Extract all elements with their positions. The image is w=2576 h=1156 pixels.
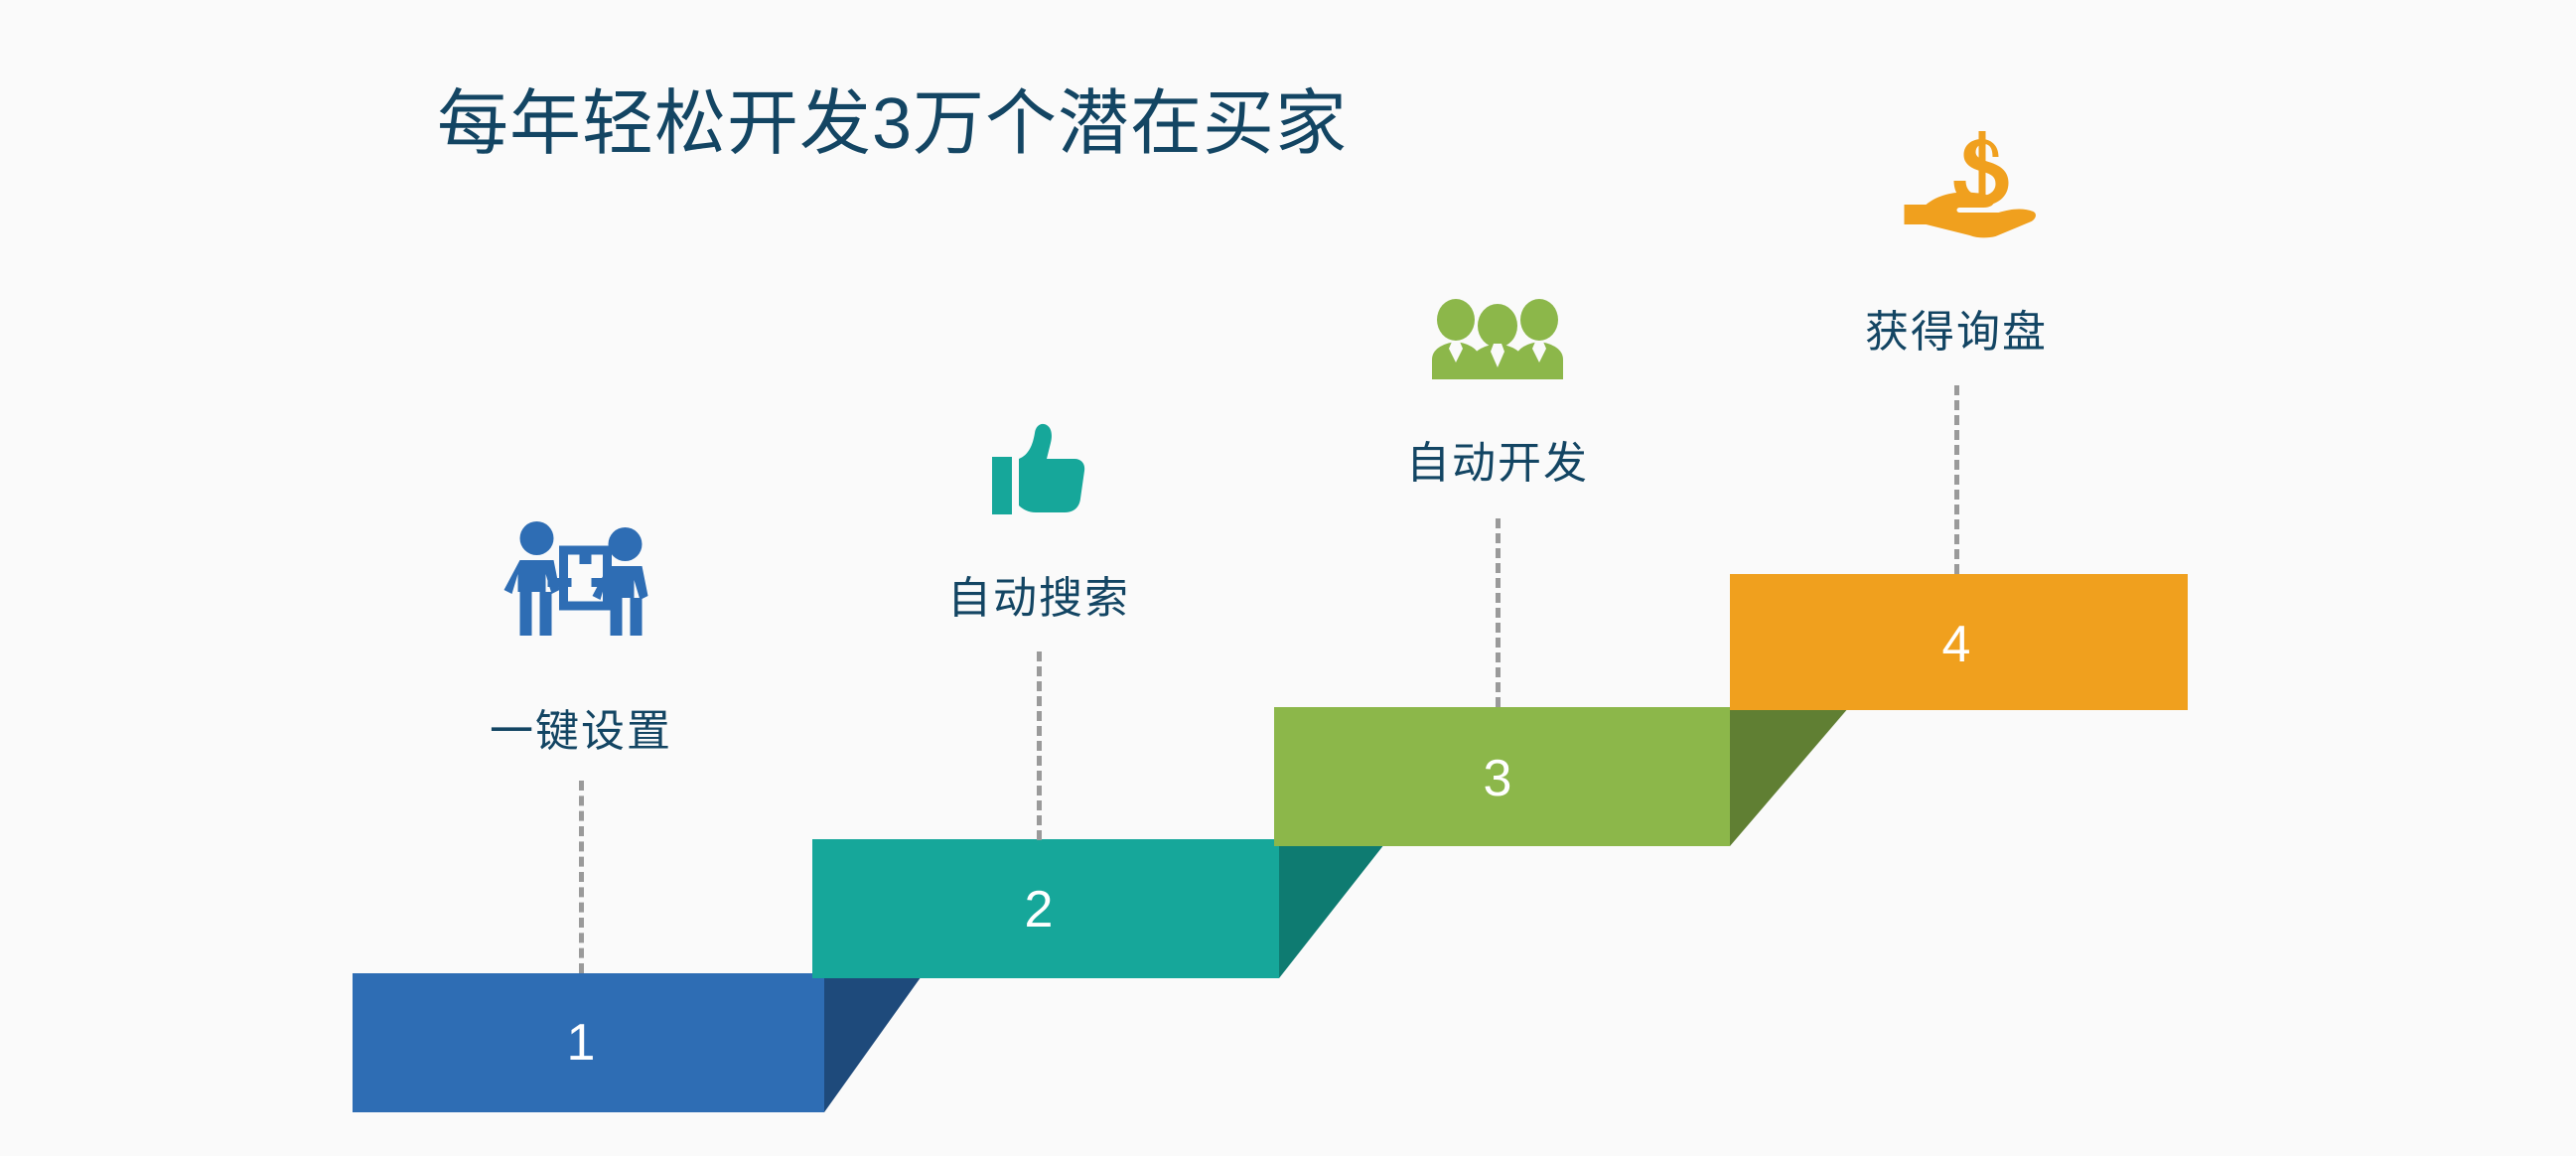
step-connector-1 [579, 781, 584, 973]
step-label-4: 获得询盘 [1865, 296, 2048, 360]
step-block-4[interactable] [1730, 574, 2188, 710]
step-riser-3 [1730, 707, 1849, 846]
staircase-diagram [0, 0, 2576, 1156]
step-label-3: 自动开发 [1406, 427, 1589, 491]
thumbs-up-icon [989, 421, 1088, 518]
step-connector-2 [1037, 651, 1042, 840]
infographic-canvas: 每年轻松开发3万个潜在买家 1 一键设置 [0, 0, 2576, 1156]
step-connector-3 [1496, 518, 1501, 707]
step-face-2 [812, 839, 1279, 978]
two-people-carrying-box-icon [504, 518, 658, 638]
step-block-1[interactable] [353, 973, 924, 1112]
hand-holding-dollar-icon [1905, 129, 2039, 238]
step-riser-1 [824, 973, 924, 1112]
step-face-1 [353, 973, 824, 1112]
step-connector-4 [1954, 385, 1959, 574]
step-face-3 [1274, 707, 1730, 846]
step-block-2[interactable] [812, 839, 1388, 978]
step-label-1: 一键设置 [490, 695, 672, 759]
step-block-3[interactable] [1274, 707, 1849, 846]
step-face-4 [1730, 574, 2188, 710]
three-business-people-icon [1428, 298, 1567, 379]
step-label-2: 自动搜索 [947, 562, 1130, 626]
step-riser-2 [1279, 839, 1388, 978]
